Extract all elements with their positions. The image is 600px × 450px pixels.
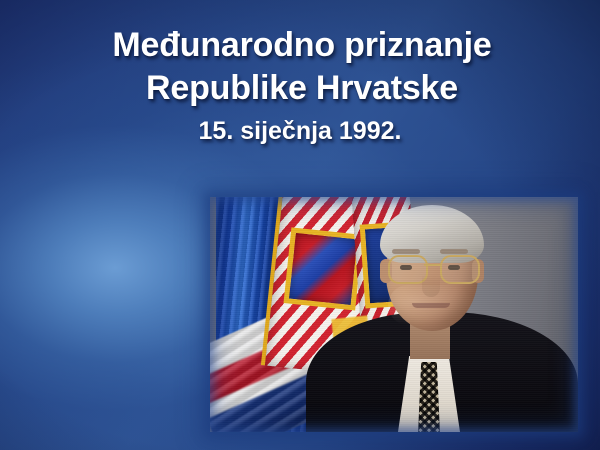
eyeglasses-lens-right — [440, 255, 480, 284]
portrait-photo — [210, 197, 578, 432]
title-block: Međunarodno priznanje Republike Hrvatske… — [0, 24, 600, 148]
eyeglasses-bridge — [424, 264, 440, 266]
subject-eyebrow-right — [440, 249, 468, 254]
subject-eyebrow-left — [392, 249, 420, 254]
title-line-1: Međunarodno priznanje — [0, 24, 600, 67]
flag-banner-center-panel — [283, 227, 363, 310]
presentation-slide: Međunarodno priznanje Republike Hrvatske… — [0, 0, 600, 450]
date-subtitle: 15. siječnja 1992. — [0, 114, 600, 148]
title-line-2: Republike Hrvatske — [0, 67, 600, 110]
subject-face-highlight — [388, 285, 474, 325]
portrait-photo-content — [210, 197, 578, 432]
